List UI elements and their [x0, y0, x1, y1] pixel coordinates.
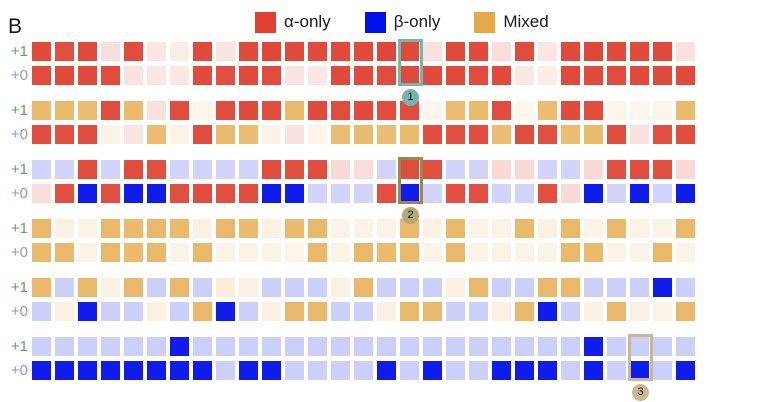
heatmap-cell [170, 278, 189, 297]
heatmap-cell [630, 125, 649, 144]
heatmap-cell [193, 42, 212, 61]
heatmap-cell [630, 361, 649, 380]
row-label-plus1: +1 [0, 219, 32, 239]
heatmap-cell [78, 243, 97, 262]
row-label-plus0: +0 [0, 243, 32, 263]
heatmap-cell [584, 243, 603, 262]
heatmap-cell [469, 337, 488, 356]
heatmap-cell [32, 278, 51, 297]
heatmap-cell [101, 160, 120, 179]
heatmap-cell [423, 42, 442, 61]
beta-only-swatch [365, 12, 386, 33]
legend-item-1: β-only [365, 12, 441, 33]
heatmap-block-1: +1+0 [0, 42, 768, 90]
heatmap-cell [124, 125, 143, 144]
heatmap-cell [607, 125, 626, 144]
heatmap-cell [630, 219, 649, 238]
heatmap-cell [78, 337, 97, 356]
heatmap-cell [469, 160, 488, 179]
heatmap-cell [492, 160, 511, 179]
heatmap-cell [538, 42, 557, 61]
heatmap-cell [354, 361, 373, 380]
heatmap-cell [216, 160, 235, 179]
heatmap-cell [446, 219, 465, 238]
heatmap-cell [239, 302, 258, 321]
heatmap-cell [400, 361, 419, 380]
heatmap-cell [377, 278, 396, 297]
heatmap-cell [147, 184, 166, 203]
heatmap-cell [32, 243, 51, 262]
heatmap-cell [653, 243, 672, 262]
heatmap-cell [354, 337, 373, 356]
heatmap-row: +0 [0, 66, 768, 88]
heatmap-cell [607, 219, 626, 238]
heatmap-cell [331, 278, 350, 297]
heatmap-cell [492, 66, 511, 85]
callout-badge-3: 3 [632, 384, 649, 401]
heatmap-row: +0 [0, 125, 768, 147]
heatmap-cell [377, 184, 396, 203]
heatmap-cell [653, 219, 672, 238]
heatmap-cell [354, 302, 373, 321]
heatmap-cell [78, 125, 97, 144]
heatmap-cell [285, 337, 304, 356]
heatmap-cell [354, 184, 373, 203]
heatmap-cell [515, 160, 534, 179]
heatmap-cell [469, 219, 488, 238]
heatmap-cell [377, 160, 396, 179]
heatmap-cell [124, 101, 143, 120]
heatmap-cell [492, 243, 511, 262]
heatmap-cell [55, 184, 74, 203]
heatmap-cell [308, 278, 327, 297]
heatmap-cell [561, 101, 580, 120]
heatmap-cell [630, 101, 649, 120]
heatmap-cell [446, 125, 465, 144]
heatmap-cell [561, 219, 580, 238]
heatmap-cell [170, 160, 189, 179]
heatmap-cell [354, 243, 373, 262]
heatmap-cell [216, 184, 235, 203]
heatmap-cell [239, 361, 258, 380]
heatmap-cells [32, 160, 695, 179]
legend-item-2: Mixed [474, 12, 548, 33]
heatmap-cell [584, 125, 603, 144]
heatmap-cell [446, 66, 465, 85]
panel-letter: B [8, 16, 22, 37]
heatmap-cell [584, 361, 603, 380]
heatmap-cell [216, 302, 235, 321]
heatmap-cell [170, 184, 189, 203]
heatmap-cell [377, 101, 396, 120]
heatmap-cell [538, 160, 557, 179]
heatmap-row: +1 [0, 160, 768, 182]
heatmap-cell [170, 361, 189, 380]
heatmap-cell [147, 302, 166, 321]
heatmap-cell [538, 66, 557, 85]
heatmap-cell [676, 101, 695, 120]
heatmap-cell [216, 101, 235, 120]
heatmap-cell [239, 278, 258, 297]
heatmap-cell [124, 42, 143, 61]
heatmap-cell [584, 278, 603, 297]
heatmap-cell [124, 243, 143, 262]
heatmap-cell [492, 42, 511, 61]
heatmap-cell [331, 337, 350, 356]
heatmap-cell [193, 184, 212, 203]
heatmap-cell [400, 66, 419, 85]
heatmap-cell [193, 302, 212, 321]
heatmap-cell [331, 125, 350, 144]
heatmap-cell [492, 278, 511, 297]
heatmap-row: +0 [0, 243, 768, 265]
heatmap-cell [584, 184, 603, 203]
heatmap-cell [32, 42, 51, 61]
heatmap-cell [285, 243, 304, 262]
heatmap-cell [78, 278, 97, 297]
heatmap-cell [446, 361, 465, 380]
heatmap-cells [32, 66, 695, 85]
heatmap-cell [653, 101, 672, 120]
heatmap-cell [538, 125, 557, 144]
heatmap-cell [561, 302, 580, 321]
heatmap-cell [331, 361, 350, 380]
heatmap-cell [400, 160, 419, 179]
heatmap-cell [653, 66, 672, 85]
heatmap-cell [423, 302, 442, 321]
heatmap-cell [170, 101, 189, 120]
heatmap-cell [492, 302, 511, 321]
heatmap-cell [446, 184, 465, 203]
heatmap-cell [32, 101, 51, 120]
heatmap-cell [308, 101, 327, 120]
heatmap-cell [147, 361, 166, 380]
heatmap-cell [538, 219, 557, 238]
heatmap-cell [653, 42, 672, 61]
heatmap-cell [55, 66, 74, 85]
heatmap-cell [676, 184, 695, 203]
heatmap-cell [630, 243, 649, 262]
heatmap-cell [262, 160, 281, 179]
heatmap-cell [124, 66, 143, 85]
heatmap-cell [607, 361, 626, 380]
heatmap-block-2: +1+0 [0, 101, 768, 149]
heatmap-row: +1 [0, 101, 768, 123]
heatmap-cell [607, 66, 626, 85]
heatmap-cell [630, 42, 649, 61]
heatmap-cell [561, 66, 580, 85]
heatmap-cell [124, 184, 143, 203]
heatmap-cell [492, 101, 511, 120]
heatmap-cell [492, 361, 511, 380]
heatmap-cell [538, 101, 557, 120]
heatmap-cell [584, 160, 603, 179]
heatmap-cell [308, 337, 327, 356]
heatmap-cell [285, 219, 304, 238]
heatmap-cells [32, 184, 695, 203]
heatmap-cell [607, 160, 626, 179]
heatmap-cell [630, 302, 649, 321]
heatmap-cell [377, 125, 396, 144]
heatmap-cell [469, 42, 488, 61]
heatmap-cell [469, 302, 488, 321]
legend-label: Mixed [503, 13, 548, 31]
heatmap-cell [285, 42, 304, 61]
heatmap-cell [285, 361, 304, 380]
heatmap-row: +1 [0, 278, 768, 300]
heatmap-cell [285, 66, 304, 85]
heatmap-cell [400, 42, 419, 61]
heatmap-cell [515, 184, 534, 203]
heatmap-cell [147, 125, 166, 144]
heatmap-cell [676, 302, 695, 321]
heatmap-cell [55, 125, 74, 144]
heatmap-cell [423, 184, 442, 203]
heatmap-cell [170, 337, 189, 356]
heatmap-cell [423, 66, 442, 85]
heatmap-cell [216, 125, 235, 144]
heatmap-cell [124, 361, 143, 380]
heatmap-cell [78, 66, 97, 85]
heatmap-cell [331, 101, 350, 120]
heatmap-cell [561, 337, 580, 356]
heatmap-cell [492, 184, 511, 203]
heatmap-cell [423, 219, 442, 238]
heatmap-cell [285, 184, 304, 203]
heatmap-cell [101, 66, 120, 85]
heatmap-cell [423, 337, 442, 356]
row-label-plus0: +0 [0, 66, 32, 86]
heatmap-cell [147, 278, 166, 297]
heatmap-cell [630, 278, 649, 297]
heatmap-cell [216, 361, 235, 380]
heatmap-cell [147, 42, 166, 61]
heatmap-cells [32, 302, 695, 321]
heatmap-cell [653, 125, 672, 144]
heatmap-cell [147, 101, 166, 120]
heatmap-cell [147, 160, 166, 179]
heatmap-cell [239, 66, 258, 85]
heatmap-block-4: +1+0 [0, 219, 768, 267]
heatmap-cell [469, 101, 488, 120]
heatmap-cell [676, 278, 695, 297]
heatmap-cell [515, 361, 534, 380]
heatmap-cell [124, 337, 143, 356]
heatmap-cell [515, 125, 534, 144]
heatmap-cell [55, 42, 74, 61]
heatmap-cells [32, 337, 695, 356]
heatmap-cell [124, 219, 143, 238]
heatmap-cell [492, 125, 511, 144]
heatmap-cell [377, 42, 396, 61]
heatmap-cell [101, 243, 120, 262]
heatmap-block-6: +1+0 [0, 337, 768, 385]
heatmap-cell [170, 302, 189, 321]
heatmap-cell [515, 66, 534, 85]
heatmap-cell [423, 243, 442, 262]
heatmap-cells [32, 361, 695, 380]
heatmap-cell [101, 361, 120, 380]
heatmap-cell [400, 278, 419, 297]
heatmap-cell [147, 337, 166, 356]
heatmap-cell [331, 302, 350, 321]
heatmap-cell [55, 101, 74, 120]
heatmap-cell [515, 302, 534, 321]
heatmap-cell [78, 160, 97, 179]
heatmap-cell [515, 42, 534, 61]
heatmap-cell [469, 243, 488, 262]
heatmap-cell [147, 66, 166, 85]
heatmap-cell [423, 160, 442, 179]
heatmap-cell [239, 160, 258, 179]
heatmap-cell [32, 66, 51, 85]
heatmap-cell [676, 42, 695, 61]
heatmap-cell [32, 219, 51, 238]
heatmap-cell [308, 219, 327, 238]
heatmap-cells [32, 125, 695, 144]
heatmap-row: +1 [0, 337, 768, 359]
heatmap-cell [561, 160, 580, 179]
heatmap-cell [262, 361, 281, 380]
legend: α-onlyβ-onlyMixed [255, 10, 549, 34]
heatmap-cell [55, 243, 74, 262]
heatmap-cell [354, 66, 373, 85]
heatmap-cell [193, 125, 212, 144]
heatmap-cell [377, 66, 396, 85]
heatmap-cell [515, 278, 534, 297]
heatmap-cell [308, 42, 327, 61]
heatmap-cell [630, 184, 649, 203]
row-label-plus1: +1 [0, 42, 32, 62]
heatmap-cell [561, 184, 580, 203]
heatmap-cell [469, 125, 488, 144]
heatmap-cell [584, 101, 603, 120]
heatmap-cell [308, 184, 327, 203]
heatmap-cell [446, 278, 465, 297]
heatmap-cell [653, 184, 672, 203]
heatmap-cell [262, 125, 281, 144]
heatmap-row: +1 [0, 219, 768, 241]
heatmap-cell [239, 243, 258, 262]
heatmap-cell [607, 243, 626, 262]
heatmap-cell [308, 361, 327, 380]
row-label-plus0: +0 [0, 184, 32, 204]
heatmap-cell [607, 337, 626, 356]
heatmap-cell [331, 243, 350, 262]
heatmap-cell [630, 66, 649, 85]
heatmap-cell [653, 337, 672, 356]
heatmap-cell [538, 361, 557, 380]
heatmap-cell [78, 302, 97, 321]
heatmap-cell [308, 302, 327, 321]
heatmap-cell [676, 361, 695, 380]
heatmap-cell [584, 302, 603, 321]
heatmap-cell [446, 42, 465, 61]
figure-panel-b: B α-onlyβ-onlyMixed +1+0+1+0+1+0+1+0+1+0… [0, 0, 768, 402]
heatmap-cell [676, 337, 695, 356]
heatmap-cell [262, 302, 281, 321]
heatmap-cell [377, 337, 396, 356]
heatmap-cell [377, 361, 396, 380]
heatmap-cell [423, 125, 442, 144]
heatmap-cell [239, 101, 258, 120]
heatmap-cell [308, 66, 327, 85]
heatmap-cell [331, 42, 350, 61]
heatmap-cell [653, 361, 672, 380]
heatmap-cell [354, 125, 373, 144]
heatmap-cell [216, 66, 235, 85]
heatmap-cell [515, 243, 534, 262]
heatmap-cells [32, 42, 695, 61]
heatmap-cell [653, 278, 672, 297]
heatmap-cell [308, 243, 327, 262]
heatmap-cell [147, 243, 166, 262]
heatmap-cell [124, 160, 143, 179]
heatmap-cell [331, 66, 350, 85]
heatmap-cell [193, 337, 212, 356]
heatmap-cells [32, 101, 695, 120]
heatmap-cell [354, 101, 373, 120]
heatmap-cell [630, 160, 649, 179]
heatmap-cell [676, 243, 695, 262]
callout-badge-2: 2 [402, 207, 419, 224]
heatmap-cell [101, 337, 120, 356]
heatmap-cell [354, 278, 373, 297]
heatmap-cell [469, 66, 488, 85]
heatmap-cell [262, 66, 281, 85]
heatmap-cell [101, 302, 120, 321]
heatmap-cell [423, 361, 442, 380]
heatmap-cell [446, 101, 465, 120]
heatmap-cell [308, 125, 327, 144]
heatmap-cell [561, 278, 580, 297]
heatmap-cell [653, 302, 672, 321]
heatmap-cell [101, 278, 120, 297]
row-label-plus0: +0 [0, 302, 32, 322]
heatmap-cell [78, 184, 97, 203]
heatmap-cell [101, 219, 120, 238]
heatmap-cell [400, 337, 419, 356]
heatmap-cell [446, 337, 465, 356]
heatmap-cell [446, 302, 465, 321]
legend-label: α-only [284, 13, 331, 31]
heatmap-cell [239, 42, 258, 61]
heatmap-cell [78, 101, 97, 120]
heatmap-cell [561, 361, 580, 380]
heatmap-cell [101, 184, 120, 203]
heatmap-cell [262, 101, 281, 120]
heatmap-cell [515, 337, 534, 356]
heatmap-cell [676, 219, 695, 238]
heatmap-cell [607, 278, 626, 297]
heatmap-cell [32, 184, 51, 203]
row-label-plus0: +0 [0, 361, 32, 381]
heatmap-cell [285, 160, 304, 179]
callout-badge-1: 1 [402, 89, 419, 106]
heatmap-cell [170, 243, 189, 262]
heatmap-cell [630, 337, 649, 356]
heatmap-cell [32, 302, 51, 321]
heatmap-cell [607, 101, 626, 120]
heatmap-cell [285, 302, 304, 321]
heatmap-cell [78, 361, 97, 380]
row-label-plus0: +0 [0, 125, 32, 145]
heatmap-cell [308, 160, 327, 179]
heatmap-cell [193, 219, 212, 238]
heatmap-cell [262, 243, 281, 262]
heatmap-cell [216, 42, 235, 61]
heatmap-cell [538, 337, 557, 356]
